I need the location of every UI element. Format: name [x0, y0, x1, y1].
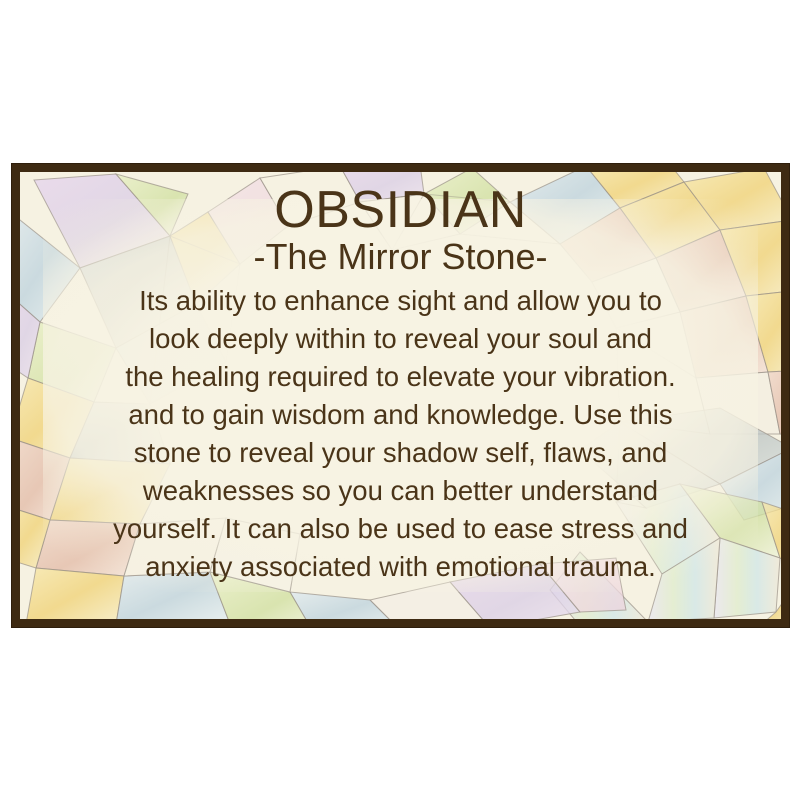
description-line: and to gain wisdom and knowledge. Use th… [20, 396, 781, 434]
page-title: OBSIDIAN [274, 182, 527, 238]
card-subtitle: -The Mirror Stone- [253, 236, 547, 278]
description-line: Its ability to enhance sight and allow y… [20, 282, 781, 320]
stone-info-card-frame: OBSIDIAN -The Mirror Stone- Its ability … [11, 163, 790, 628]
description-line: yourself. It can also be used to ease st… [20, 510, 781, 548]
description-line: anxiety associated with emotional trauma… [20, 548, 781, 586]
description-line: the healing required to elevate your vib… [20, 358, 781, 396]
description-line: weaknesses so you can better understand [20, 472, 781, 510]
card-text-layer: OBSIDIAN -The Mirror Stone- Its ability … [20, 172, 781, 619]
page-canvas: OBSIDIAN -The Mirror Stone- Its ability … [0, 0, 800, 799]
description-line: look deeply within to reveal your soul a… [20, 320, 781, 358]
stone-info-card: OBSIDIAN -The Mirror Stone- Its ability … [20, 172, 781, 619]
description-line: stone to reveal your shadow self, flaws,… [20, 434, 781, 472]
card-description: Its ability to enhance sight and allow y… [20, 282, 781, 586]
